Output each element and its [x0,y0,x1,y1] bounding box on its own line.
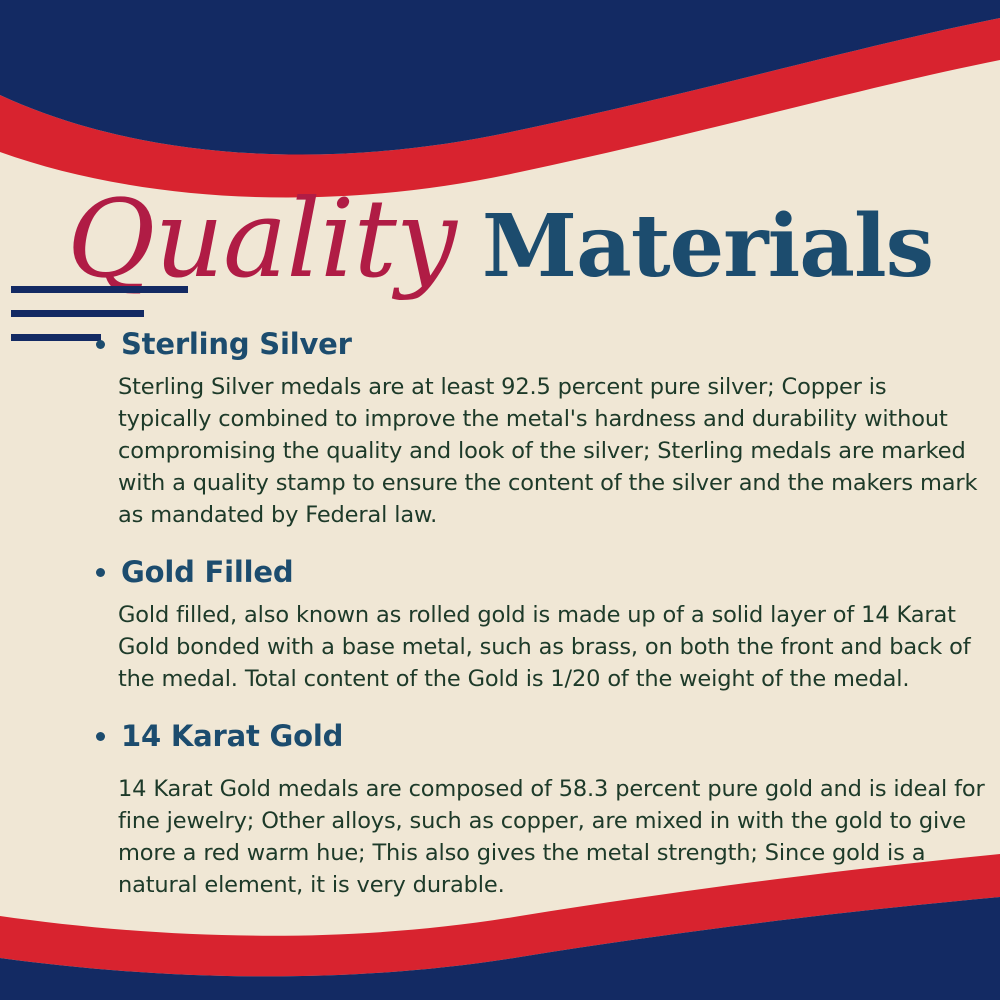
bullet-icon [96,340,105,349]
title-word-plain: Materials [482,204,933,290]
section-heading-label: Gold Filled [121,554,293,590]
section-body-text: Gold filled, also known as rolled gold i… [118,600,986,696]
bullet-icon [96,732,105,741]
section-heading-row: Sterling Silver [96,326,986,362]
top-red-wave [0,18,1000,198]
rule-line-1 [11,286,188,293]
section-heading-label: 14 Karat Gold [121,718,343,754]
section-heading-label: Sterling Silver [121,326,352,362]
section-body-text: 14 Karat Gold medals are composed of 58.… [118,774,986,902]
top-navy-wave [0,0,1000,155]
section-gold-filled: Gold Filled Gold filled, also known as r… [96,554,986,696]
poster-canvas: Quality Materials Sterling Silver Sterli… [0,0,1000,1000]
rule-line-2 [11,310,144,317]
section-14-karat-gold: 14 Karat Gold 14 Karat Gold medals are c… [96,718,986,902]
section-heading-row: 14 Karat Gold [96,718,986,754]
section-sterling-silver: Sterling Silver Sterling Silver medals a… [96,326,986,532]
content-list: Sterling Silver Sterling Silver medals a… [96,326,986,906]
section-heading-row: Gold Filled [96,554,986,590]
section-body-text: Sterling Silver medals are at least 92.5… [118,372,986,532]
title-word-script: Quality [67,186,456,294]
bullet-icon [96,568,105,577]
bottom-navy-wave [0,897,1000,1000]
rule-line-3 [11,334,101,341]
page-title: Quality Materials [0,186,1000,296]
